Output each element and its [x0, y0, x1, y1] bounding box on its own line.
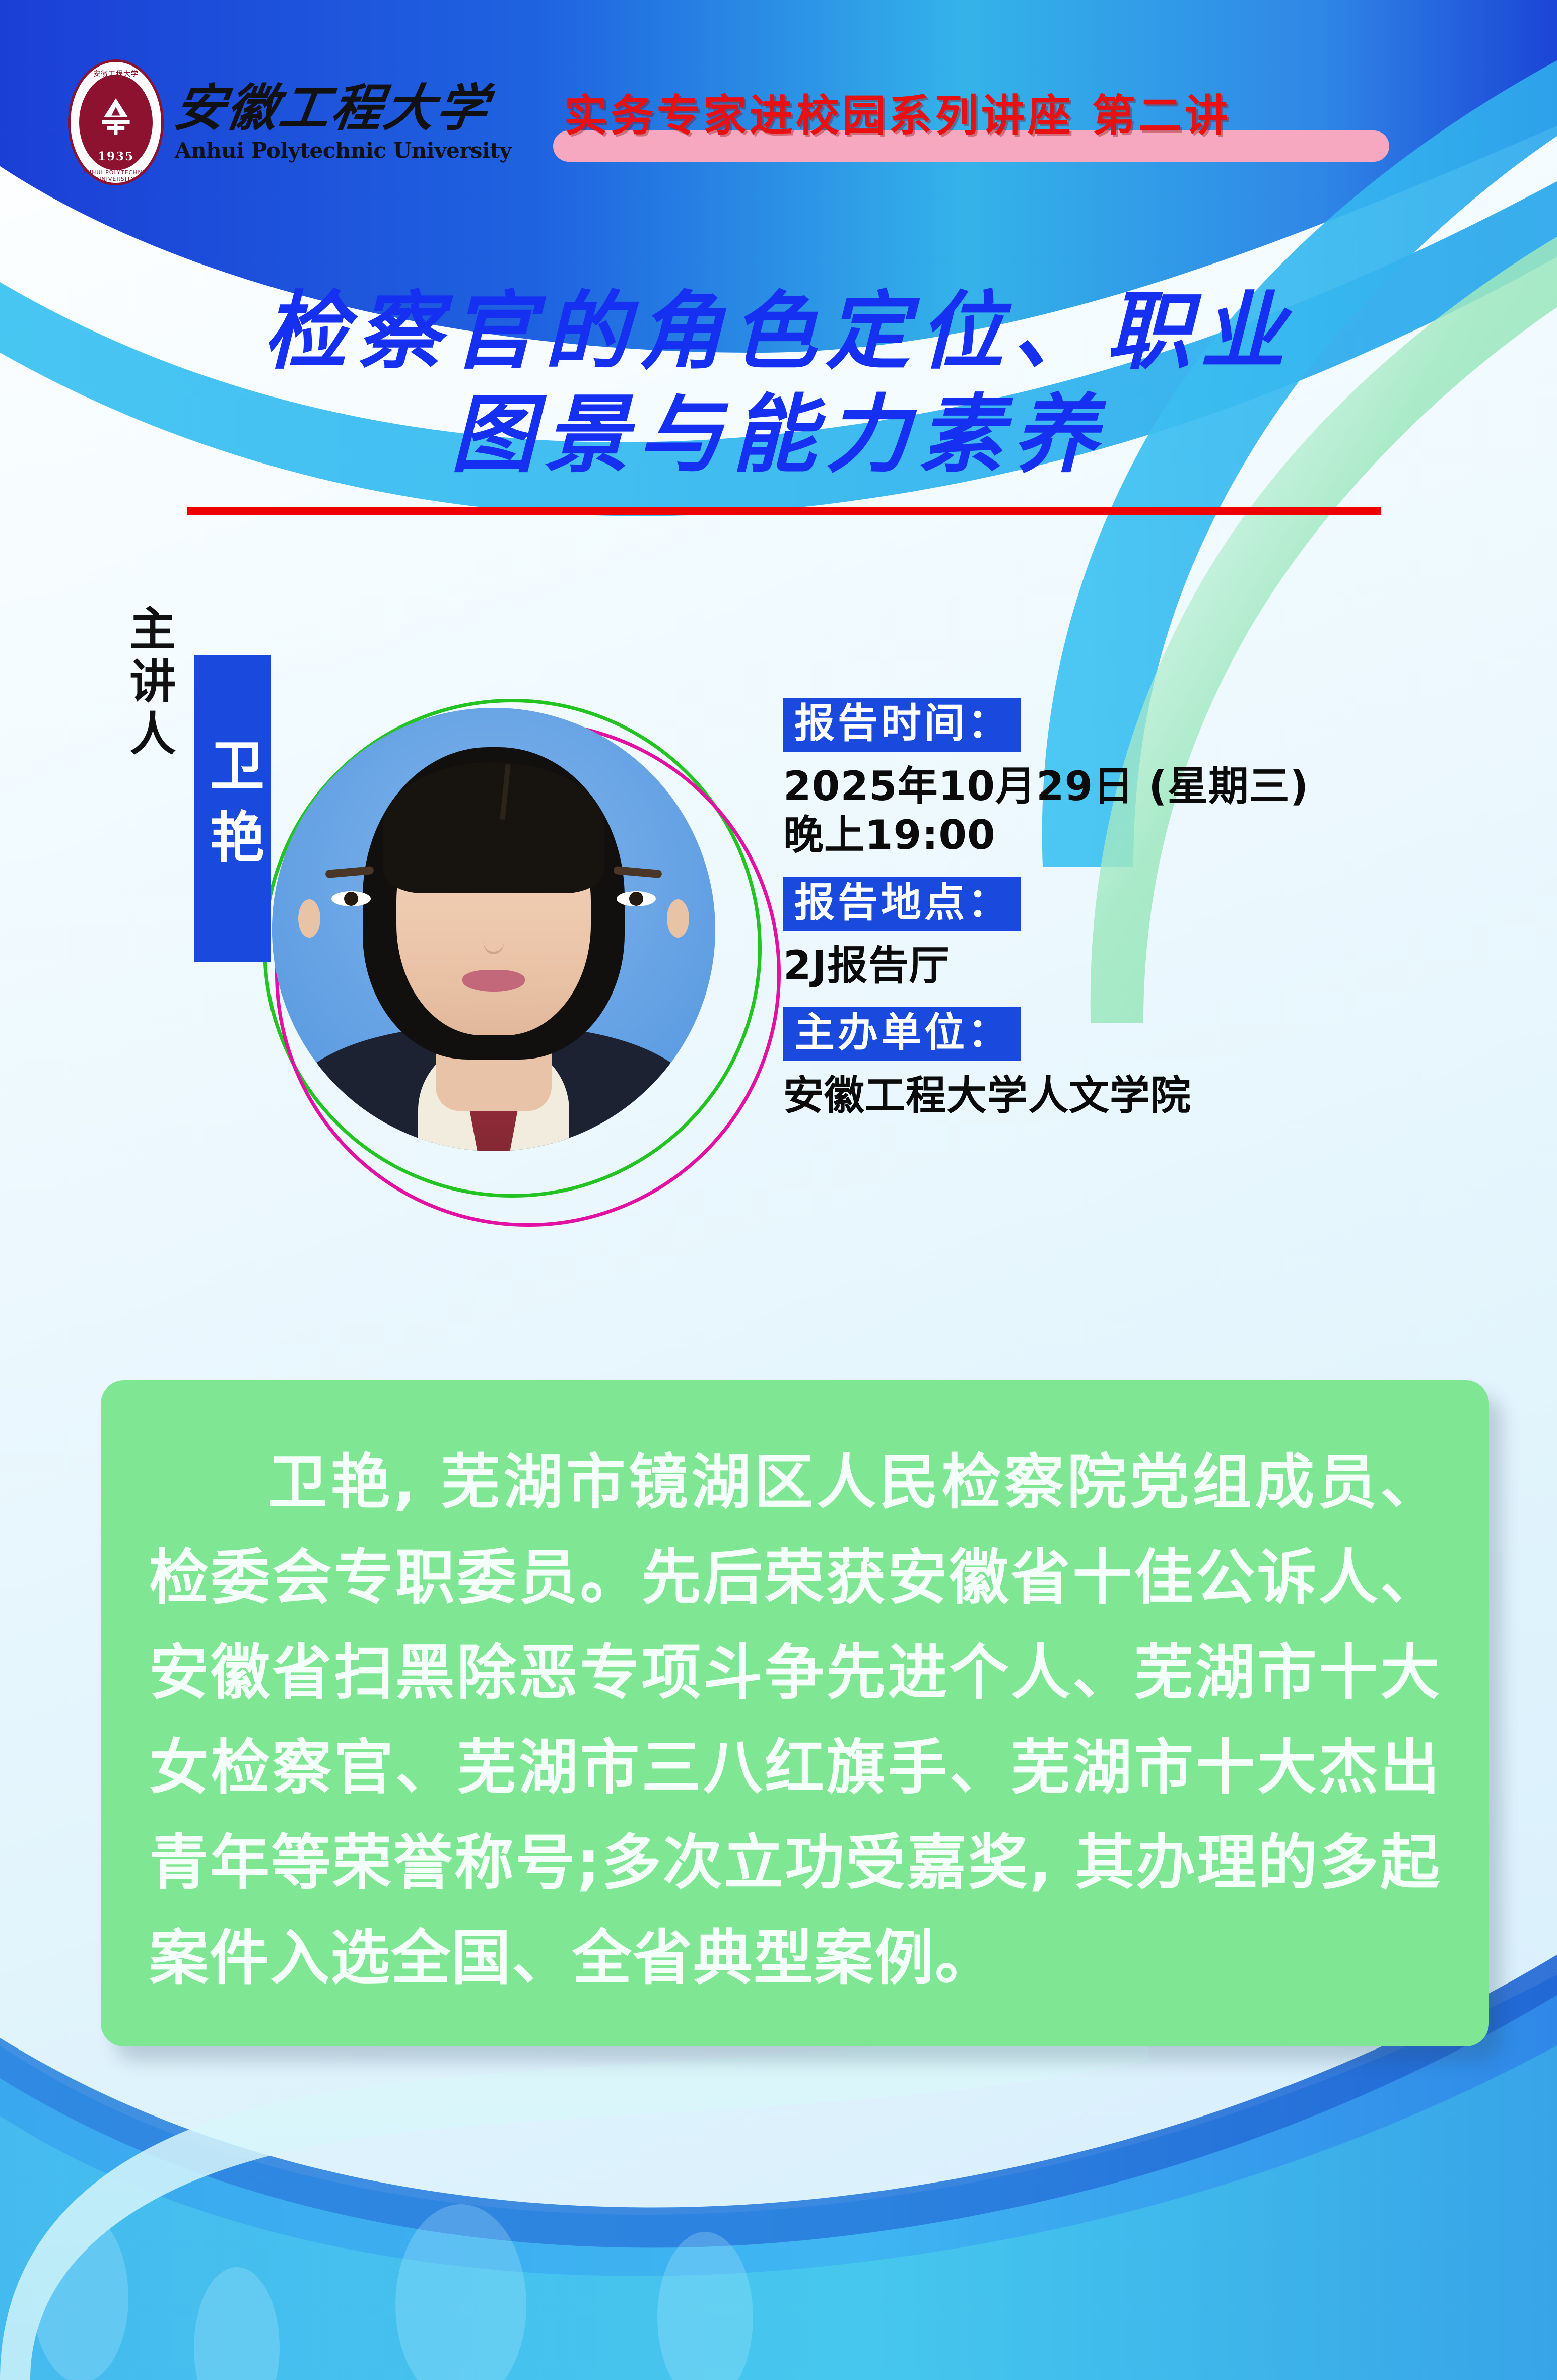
speaker-portrait-photo — [272, 708, 715, 1151]
poster-canvas: 安徽工程大学 1935 ANHUI POLYTECHNIC UNIVERSITY… — [0, 0, 1557, 2380]
university-name-cn: 安徽工程大学 — [171, 83, 515, 133]
report-place-value: 2J报告厅 — [783, 941, 1499, 990]
report-place-label: 报告地点： — [783, 877, 1021, 931]
crest-arc-cn: 安徽工程大学 — [68, 69, 164, 79]
speaker-bio-card: 卫艳, 芜湖市镜湖区人民检察院党组成员、检委会专职委员。先后荣获安徽省十佳公诉人… — [101, 1380, 1489, 2046]
host-organization-label: 主办单位： — [783, 1007, 1021, 1061]
university-crest-icon: 安徽工程大学 1935 ANHUI POLYTECHNIC UNIVERSITY — [68, 59, 164, 185]
speaker-bio-text: 卫艳, 芜湖市镜湖区人民检察院党组成员、检委会专职委员。先后荣获安徽省十佳公诉人… — [149, 1435, 1441, 2006]
title-line-2: 图景与能力素养 — [0, 383, 1557, 486]
event-info-panel: 报告时间： 2025年10月29日 (星期三) 晚上19:00 报告地点： 2J… — [783, 698, 1499, 1120]
crest-emblem-icon — [93, 96, 139, 139]
crest-year: 1935 — [68, 150, 164, 163]
speaker-role-label: 主讲人 — [119, 605, 178, 762]
page-title: 检察官的角色定位、职业 图景与能力素养 — [0, 280, 1557, 486]
university-name-en: Anhui Polytechnic University — [175, 138, 511, 163]
title-line-1: 检察官的角色定位、职业 — [0, 280, 1557, 383]
speaker-name-text: 卫艳 — [206, 737, 260, 880]
report-time-value-line1: 2025年10月29日 (星期三) — [783, 762, 1499, 811]
title-underline-rule — [187, 507, 1381, 515]
host-organization-value: 安徽工程大学人文学院 — [783, 1071, 1499, 1120]
speaker-portrait-wrap — [272, 708, 746, 1181]
report-time-label: 报告时间： — [783, 698, 1021, 752]
series-badge: 实务专家进校园系列讲座 第二讲 — [564, 93, 1231, 139]
report-time-value-line2: 晚上19:00 — [783, 811, 1499, 860]
university-logo: 安徽工程大学 1935 ANHUI POLYTECHNIC UNIVERSITY… — [68, 59, 511, 185]
series-label: 实务专家进校园系列讲座 第二讲 — [564, 93, 1231, 139]
crest-arc-en: ANHUI POLYTECHNIC UNIVERSITY — [68, 169, 164, 182]
speaker-name-banner: 卫艳 — [194, 655, 271, 962]
